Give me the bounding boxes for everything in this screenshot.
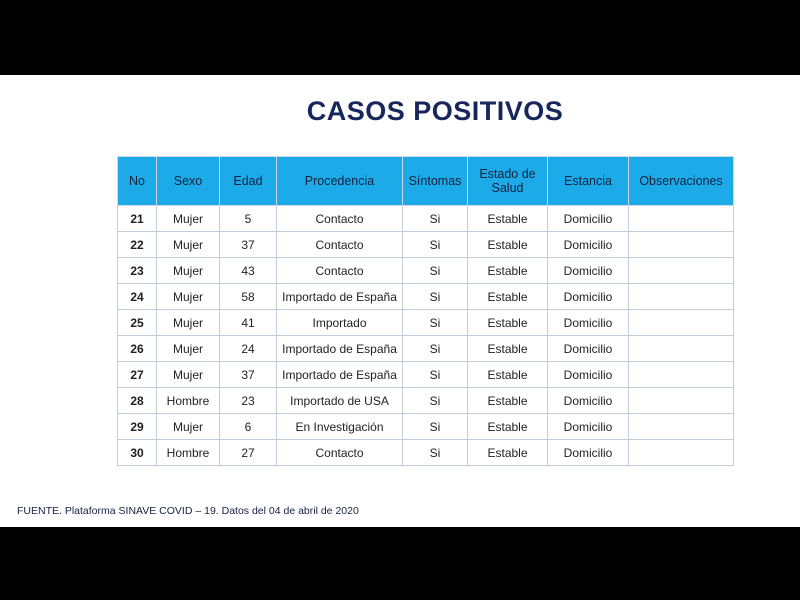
cell-sexo: Mujer bbox=[157, 414, 220, 440]
cell-sexo: Mujer bbox=[157, 336, 220, 362]
cell-estado-salud: Estable bbox=[468, 414, 548, 440]
table-row: 29Mujer6En InvestigaciónSiEstableDomicil… bbox=[118, 414, 734, 440]
column-header-estado-salud: Estado de Salud bbox=[468, 157, 548, 206]
cell-observaciones bbox=[629, 284, 734, 310]
cell-no: 23 bbox=[118, 258, 157, 284]
cell-procedencia: Contacto bbox=[277, 258, 403, 284]
cell-sexo: Mujer bbox=[157, 284, 220, 310]
cell-observaciones bbox=[629, 440, 734, 466]
cell-sintomas: Si bbox=[403, 206, 468, 232]
cell-procedencia: Importado de España bbox=[277, 362, 403, 388]
cell-edad: 41 bbox=[220, 310, 277, 336]
table-header-row: No Sexo Edad Procedencia Síntomas Estado… bbox=[118, 157, 734, 206]
cell-estancia: Domicilio bbox=[548, 310, 629, 336]
cell-observaciones bbox=[629, 336, 734, 362]
cell-procedencia: Importado de España bbox=[277, 336, 403, 362]
cell-sintomas: Si bbox=[403, 284, 468, 310]
cell-estancia: Domicilio bbox=[548, 232, 629, 258]
cell-observaciones bbox=[629, 414, 734, 440]
column-header-sexo: Sexo bbox=[157, 157, 220, 206]
column-header-estancia: Estancia bbox=[548, 157, 629, 206]
page-title: CASOS POSITIVOS bbox=[0, 96, 800, 127]
cell-estancia: Domicilio bbox=[548, 388, 629, 414]
cell-sintomas: Si bbox=[403, 362, 468, 388]
table-row: 21Mujer5ContactoSiEstableDomicilio bbox=[118, 206, 734, 232]
cell-edad: 37 bbox=[220, 362, 277, 388]
cell-no: 28 bbox=[118, 388, 157, 414]
cell-no: 30 bbox=[118, 440, 157, 466]
cell-no: 25 bbox=[118, 310, 157, 336]
cell-sintomas: Si bbox=[403, 310, 468, 336]
column-header-sintomas: Síntomas bbox=[403, 157, 468, 206]
cell-estancia: Domicilio bbox=[548, 362, 629, 388]
cell-observaciones bbox=[629, 310, 734, 336]
cell-sexo: Mujer bbox=[157, 362, 220, 388]
cell-observaciones bbox=[629, 362, 734, 388]
cell-procedencia: Contacto bbox=[277, 206, 403, 232]
source-footnote: FUENTE. Plataforma SINAVE COVID – 19. Da… bbox=[17, 505, 359, 517]
cell-estado-salud: Estable bbox=[468, 336, 548, 362]
cell-edad: 27 bbox=[220, 440, 277, 466]
cell-observaciones bbox=[629, 388, 734, 414]
cell-estado-salud: Estable bbox=[468, 206, 548, 232]
cases-table: No Sexo Edad Procedencia Síntomas Estado… bbox=[117, 156, 734, 466]
cell-estado-salud: Estable bbox=[468, 284, 548, 310]
table-row: 28Hombre23Importado de USASiEstableDomic… bbox=[118, 388, 734, 414]
cell-estado-salud: Estable bbox=[468, 310, 548, 336]
table-row: 26Mujer24Importado de EspañaSiEstableDom… bbox=[118, 336, 734, 362]
cell-procedencia: Importado de USA bbox=[277, 388, 403, 414]
cell-procedencia: En Investigación bbox=[277, 414, 403, 440]
cell-procedencia: Importado bbox=[277, 310, 403, 336]
cell-no: 29 bbox=[118, 414, 157, 440]
cell-sintomas: Si bbox=[403, 232, 468, 258]
cell-estancia: Domicilio bbox=[548, 258, 629, 284]
cell-sexo: Hombre bbox=[157, 388, 220, 414]
cell-edad: 43 bbox=[220, 258, 277, 284]
cell-estancia: Domicilio bbox=[548, 440, 629, 466]
cell-no: 26 bbox=[118, 336, 157, 362]
cell-sintomas: Si bbox=[403, 336, 468, 362]
cell-no: 27 bbox=[118, 362, 157, 388]
cell-no: 21 bbox=[118, 206, 157, 232]
cell-observaciones bbox=[629, 232, 734, 258]
cell-edad: 6 bbox=[220, 414, 277, 440]
cell-edad: 58 bbox=[220, 284, 277, 310]
cell-estancia: Domicilio bbox=[548, 284, 629, 310]
cell-estado-salud: Estable bbox=[468, 362, 548, 388]
cell-edad: 37 bbox=[220, 232, 277, 258]
cell-sexo: Mujer bbox=[157, 232, 220, 258]
table-row: 23Mujer43ContactoSiEstableDomicilio bbox=[118, 258, 734, 284]
cell-sexo: Hombre bbox=[157, 440, 220, 466]
cell-estancia: Domicilio bbox=[548, 414, 629, 440]
cell-sintomas: Si bbox=[403, 440, 468, 466]
column-header-observaciones: Observaciones bbox=[629, 157, 734, 206]
table-header: No Sexo Edad Procedencia Síntomas Estado… bbox=[118, 157, 734, 206]
cell-estado-salud: Estable bbox=[468, 258, 548, 284]
cell-edad: 23 bbox=[220, 388, 277, 414]
table-row: 25Mujer41ImportadoSiEstableDomicilio bbox=[118, 310, 734, 336]
cell-estado-salud: Estable bbox=[468, 232, 548, 258]
cell-procedencia: Contacto bbox=[277, 232, 403, 258]
column-header-procedencia: Procedencia bbox=[277, 157, 403, 206]
column-header-no: No bbox=[118, 157, 157, 206]
table-body: 21Mujer5ContactoSiEstableDomicilio22Muje… bbox=[118, 206, 734, 466]
cell-sintomas: Si bbox=[403, 414, 468, 440]
cell-estado-salud: Estable bbox=[468, 440, 548, 466]
letterbox-bottom-bar bbox=[0, 527, 800, 600]
cell-observaciones bbox=[629, 258, 734, 284]
table-row: 24Mujer58Importado de EspañaSiEstableDom… bbox=[118, 284, 734, 310]
cell-sintomas: Si bbox=[403, 388, 468, 414]
cell-no: 24 bbox=[118, 284, 157, 310]
cell-estado-salud: Estable bbox=[468, 388, 548, 414]
table-row: 30Hombre27ContactoSiEstableDomicilio bbox=[118, 440, 734, 466]
cell-estancia: Domicilio bbox=[548, 206, 629, 232]
cases-table-container: No Sexo Edad Procedencia Síntomas Estado… bbox=[117, 156, 733, 466]
cell-observaciones bbox=[629, 206, 734, 232]
presentation-screen: CASOS POSITIVOS No Sexo Edad Procedencia… bbox=[0, 0, 800, 600]
cell-estancia: Domicilio bbox=[548, 336, 629, 362]
cell-sintomas: Si bbox=[403, 258, 468, 284]
cell-no: 22 bbox=[118, 232, 157, 258]
cell-procedencia: Contacto bbox=[277, 440, 403, 466]
cell-edad: 5 bbox=[220, 206, 277, 232]
cell-sexo: Mujer bbox=[157, 310, 220, 336]
cell-sexo: Mujer bbox=[157, 258, 220, 284]
cell-procedencia: Importado de España bbox=[277, 284, 403, 310]
cell-edad: 24 bbox=[220, 336, 277, 362]
column-header-edad: Edad bbox=[220, 157, 277, 206]
cell-sexo: Mujer bbox=[157, 206, 220, 232]
table-row: 27Mujer37Importado de EspañaSiEstableDom… bbox=[118, 362, 734, 388]
table-row: 22Mujer37ContactoSiEstableDomicilio bbox=[118, 232, 734, 258]
slide-canvas: CASOS POSITIVOS No Sexo Edad Procedencia… bbox=[0, 75, 800, 527]
letterbox-top-bar bbox=[0, 0, 800, 75]
